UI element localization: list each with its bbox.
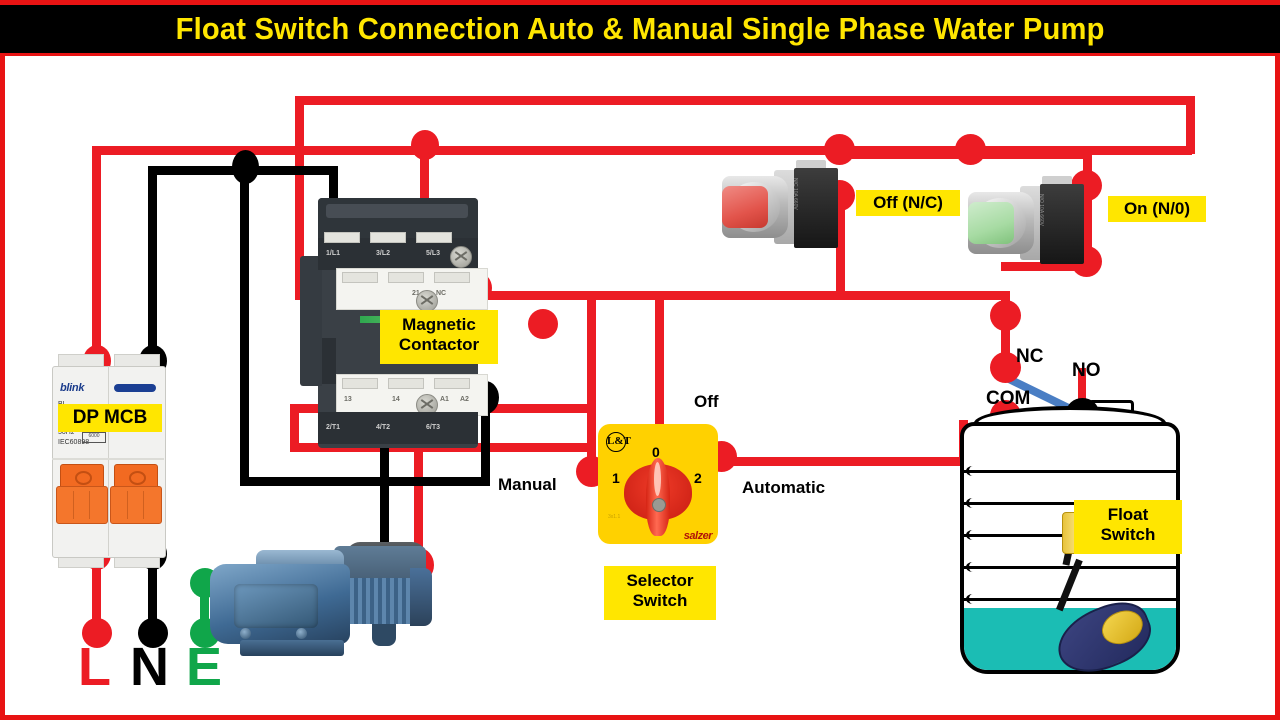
off-push-button[interactable]: N/C 10A 660V: [722, 162, 840, 254]
pump-fan-cover: [410, 568, 432, 626]
title-bar: Float Switch Connection Auto & Manual Si…: [0, 0, 1280, 56]
contactor-label: Magnetic Contactor: [380, 310, 498, 364]
water-pump[interactable]: [196, 536, 436, 662]
junction-neutral-split: [232, 150, 259, 184]
supply-letter-L: L: [78, 640, 111, 694]
wire-live-aux-bus: [420, 291, 1010, 300]
pump-face-plate: [234, 584, 318, 628]
supply-letter-E: E: [186, 640, 222, 694]
contactor-screw-aux[interactable]: [416, 290, 438, 312]
selector-manual-text: Manual: [498, 475, 557, 495]
selector-off-text: Off: [694, 392, 719, 412]
wire-live-mcb-riser: [92, 146, 101, 376]
contactor-mark-t1: 2/T1: [326, 424, 340, 431]
contactor-din-clip: [322, 338, 336, 384]
pump-base-foot: [240, 640, 344, 656]
frame-left: [0, 56, 5, 720]
tank-rib-1: [960, 470, 1180, 473]
diagram-canvas: Float Switch Connection Auto & Manual Si…: [0, 0, 1280, 720]
junction-live-top-tee: [411, 130, 439, 160]
tank-wave-5: [966, 594, 979, 604]
wire-live-upper-loop-top: [295, 96, 1195, 105]
contactor-mark-t2: 4/T2: [376, 424, 390, 431]
supply-letter-N: N: [130, 640, 169, 694]
float-terminal-com: COM: [986, 388, 1030, 410]
pump-rear-foot: [372, 624, 396, 646]
mcb-blue-bar: [114, 384, 156, 392]
off-button-label: Off (N/C): [856, 190, 960, 216]
wire-live-selector-zero: [655, 291, 664, 443]
mcb-lever-hole-left: [75, 471, 92, 485]
tank-wave-4: [966, 562, 979, 572]
tank-wave-1: [966, 466, 979, 476]
contactor-cap-highlight: [326, 204, 468, 218]
contactor-side-rail: [300, 256, 322, 386]
pump-bolt-1: [240, 628, 251, 639]
contactor-mark-l3: 5/L3: [426, 250, 440, 257]
tank-rib-4: [960, 566, 1180, 569]
wire-neutral-left-drop: [240, 166, 249, 486]
tank-rib-5: [960, 598, 1180, 601]
tank-wave-2: [966, 498, 979, 508]
junction-off-button-top: [824, 134, 855, 165]
junction-button-bus-tee: [955, 134, 986, 165]
on-button-block-print: N/O 10A 660V: [1037, 194, 1045, 230]
selector-position-1[interactable]: 1: [612, 470, 620, 486]
selector-switch[interactable]: L&T 0 1 2 3x1.1 salzer: [598, 424, 718, 544]
contactor-mark-14: 14: [392, 396, 400, 403]
contactor-mark-l2: 3/L2: [376, 250, 390, 257]
on-button-cap[interactable]: [968, 202, 1014, 244]
contactor-coil-lugs: [342, 378, 470, 389]
mcb-cert-box: 6000: [82, 432, 106, 443]
contactor-aux-lugs: [342, 272, 470, 283]
selector-brand: salzer: [684, 530, 712, 542]
off-button-block-print: N/C 10A 660V: [791, 178, 799, 214]
on-button-label: On (N/0): [1108, 196, 1206, 222]
mcb-lever-hole-right: [129, 471, 146, 485]
contactor-top-lugs: [324, 232, 452, 243]
selector-knob-pivot: [652, 498, 666, 512]
mcb-toggle-pad-left[interactable]: [56, 486, 108, 524]
float-terminal-nc: NC: [1016, 346, 1043, 368]
selector-automatic-text: Automatic: [742, 478, 825, 498]
contactor-mark-nc: NC: [436, 290, 446, 297]
contactor-mark-13: 13: [344, 396, 352, 403]
page-title: Float Switch Connection Auto & Manual Si…: [176, 11, 1105, 47]
selector-knob[interactable]: [624, 458, 692, 536]
contactor-mark-a2: A2: [460, 396, 469, 403]
on-button-contact-block: N/O 10A 660V: [1040, 184, 1084, 264]
pump-bolt-2: [296, 628, 307, 639]
mcb-pole-divider: [108, 366, 109, 556]
frame-right: [1275, 56, 1280, 720]
contactor-mark-t3: 6/T3: [426, 424, 440, 431]
selector-position-2[interactable]: 2: [694, 470, 702, 486]
wire-neutral-bottom: [240, 477, 490, 486]
wire-live-right-vert: [1186, 96, 1195, 154]
contactor-mark-l1: 1/L1: [326, 250, 340, 257]
wire-live-selector-two: [718, 457, 968, 466]
mcb-toggle-pad-right[interactable]: [110, 486, 162, 524]
mcb-label: DP MCB: [58, 404, 162, 432]
tank-wave-3: [966, 530, 979, 540]
float-switch-label: Float Switch: [1074, 500, 1182, 554]
dp-mcb[interactable]: blink BL C 40A 50Hz IEC60898 6000 5.5: [52, 366, 164, 556]
pump-cooling-fins: [346, 578, 416, 624]
contactor-screw-top[interactable]: [450, 246, 472, 268]
float-switch-eye: [1097, 605, 1148, 650]
frame-bottom: [0, 715, 1280, 720]
off-button-cap[interactable]: [722, 186, 768, 228]
selector-knob-highlight: [654, 462, 661, 496]
on-push-button[interactable]: N/O 10A 660V: [968, 178, 1086, 270]
junction-aux-bus-tee: [528, 309, 558, 339]
mcb-brand: blink: [60, 382, 84, 394]
mcb-body: [52, 366, 166, 558]
junction-on-return-tee: [990, 300, 1021, 331]
float-terminal-no: NO: [1072, 360, 1101, 382]
lt-logo-icon: L&T: [606, 432, 626, 452]
selector-tiny-print: 3x1.1: [608, 514, 620, 520]
off-button-contact-block: N/C 10A 660V: [794, 168, 838, 248]
contactor-bottom-terminal-row: [318, 412, 478, 444]
contactor-mark-a1: A1: [440, 396, 449, 403]
selector-switch-label: Selector Switch: [604, 566, 716, 620]
mcb-ledge: [52, 458, 164, 460]
